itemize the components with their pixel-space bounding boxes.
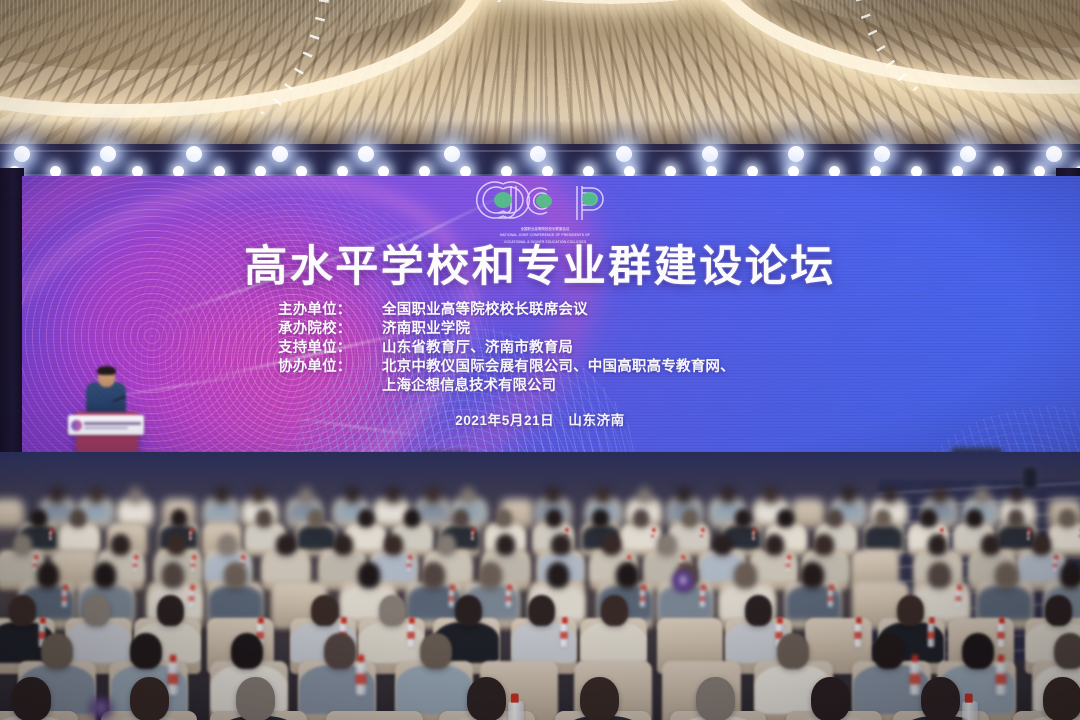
audience-member-head xyxy=(713,534,732,556)
audience-member-head xyxy=(90,487,104,503)
audience-member-head xyxy=(814,534,833,556)
audience-member-torso xyxy=(581,622,646,663)
audience-member-head xyxy=(461,487,475,503)
water-bottle xyxy=(508,702,523,720)
audience-member-head xyxy=(827,509,843,527)
audience-member-head xyxy=(162,562,185,588)
audience-member-head xyxy=(633,509,649,527)
water-bottle xyxy=(189,531,192,540)
audience-member-head xyxy=(1008,509,1024,527)
audience-member-head xyxy=(308,509,324,527)
audience-chair xyxy=(326,711,422,720)
audience-member-head xyxy=(696,677,735,720)
audience-member-head xyxy=(677,487,691,503)
audience-member-head xyxy=(9,595,36,626)
ceiling xyxy=(0,0,1080,162)
truss-lamp-large xyxy=(530,146,546,162)
audience-member-torso xyxy=(205,501,238,522)
seat-number-marker: 6 xyxy=(90,697,112,719)
audience-member-head xyxy=(94,562,117,588)
audience-member-head xyxy=(467,677,506,720)
audience-member-head xyxy=(801,562,824,588)
podium-placard-text xyxy=(84,422,141,429)
audience-member-head xyxy=(933,487,947,503)
water-bottle xyxy=(560,623,567,647)
audience-member-head xyxy=(50,487,64,503)
audience-member-head xyxy=(358,562,381,588)
audience-member-head xyxy=(873,633,905,669)
audience-member-head xyxy=(324,633,356,669)
audience-member-torso xyxy=(208,585,263,620)
audience-member-head xyxy=(1045,595,1072,626)
speaker-hair xyxy=(97,366,116,375)
audience-member-head xyxy=(13,534,32,556)
info-label: 主办单位： xyxy=(278,298,382,319)
water-bottle xyxy=(956,589,961,606)
audience-member-head xyxy=(601,595,628,626)
audience-member-head xyxy=(386,487,400,503)
water-bottle xyxy=(700,589,705,606)
placard-line-1 xyxy=(84,422,141,425)
audience-member-head xyxy=(897,595,924,626)
audience-member-head xyxy=(157,595,184,626)
info-label: 支持单位： xyxy=(278,336,382,357)
audience-member-head xyxy=(928,562,951,588)
audience-member-head xyxy=(299,487,313,503)
water-bottle xyxy=(700,531,703,540)
audience-member-head xyxy=(777,633,809,669)
audience-member-head xyxy=(379,595,406,626)
info-value: 济南职业学院 xyxy=(382,317,918,338)
audience-member-head xyxy=(37,562,60,588)
audience-member-head xyxy=(975,487,989,503)
audience-chair xyxy=(0,499,24,528)
truss-lamp-large xyxy=(702,146,718,162)
audience-member-head xyxy=(546,487,560,503)
audience-member-head xyxy=(252,487,266,503)
truss-lamp-large xyxy=(788,146,804,162)
seat-number-marker: 8 xyxy=(672,570,694,592)
audience-member-torso xyxy=(396,665,472,714)
audience-member-head xyxy=(1059,509,1075,527)
audience-member-head xyxy=(111,534,130,556)
water-bottle xyxy=(167,661,177,695)
audience-member-head xyxy=(1032,534,1051,556)
audience-member-head xyxy=(455,595,482,626)
audience-member-head xyxy=(764,487,778,503)
water-bottle xyxy=(995,661,1005,695)
audience-member-head xyxy=(596,487,610,503)
audience-member-torso xyxy=(66,622,131,663)
water-bottle xyxy=(910,661,920,695)
audience-member-head xyxy=(358,509,374,527)
audience-member-head xyxy=(875,509,891,527)
audience-member-head xyxy=(765,534,784,556)
audience-member-head xyxy=(580,677,619,720)
audience-member-head xyxy=(41,633,73,669)
audience-member-head xyxy=(276,534,295,556)
water-bottle xyxy=(855,623,862,647)
audience-member-head xyxy=(479,562,502,588)
info-label: 协办单位： xyxy=(278,355,382,376)
audience-member-head xyxy=(437,534,456,556)
audience-member-head xyxy=(1043,677,1080,720)
water-bottle xyxy=(1053,558,1057,570)
info-continuation: 上海企想信息技术有限公司 xyxy=(278,374,918,393)
water-bottle xyxy=(506,589,511,606)
truss-lamp-large xyxy=(358,146,374,162)
audience-member-head xyxy=(231,633,263,669)
audience-member-head xyxy=(496,534,515,556)
logo-subtitle: 全国职业高等院校校长联席会议 xyxy=(470,227,620,232)
audience-member-head xyxy=(721,487,735,503)
water-bottle xyxy=(828,589,833,606)
audience-member-head xyxy=(928,534,947,556)
audience-member-torso xyxy=(1049,525,1080,550)
truss-lamp-large xyxy=(14,146,30,162)
audience-member-head xyxy=(384,534,403,556)
water-bottle xyxy=(471,531,474,540)
truss-lamp-large xyxy=(1046,146,1062,162)
podium-placard xyxy=(68,415,144,435)
audience-member-head xyxy=(745,595,772,626)
audience-member-head xyxy=(547,562,570,588)
info-row: 主办单位： 全国职业高等院校校长联席会议 xyxy=(278,298,918,317)
audience-member-head xyxy=(734,562,757,588)
water-bottle xyxy=(133,558,137,570)
water-bottle xyxy=(651,531,654,540)
logo-subtitle-en1: NATIONAL JOINT CONFERENCE OF PRESIDENTS … xyxy=(470,233,620,238)
audience-member-head xyxy=(811,677,850,720)
audience-member-head xyxy=(551,534,570,556)
audience-member-head xyxy=(842,487,856,503)
water-bottle xyxy=(191,558,195,570)
audience-member-head xyxy=(12,677,51,720)
audience-member-head xyxy=(966,509,982,527)
audience-member-torso xyxy=(416,501,449,522)
water-bottle xyxy=(962,702,977,720)
audience-member-head xyxy=(422,562,445,588)
water-bottle xyxy=(189,589,194,606)
podium-placard-logo-icon xyxy=(71,420,82,431)
audience-member-head xyxy=(1054,633,1080,669)
audience-member-head xyxy=(1010,487,1024,503)
audience-member-head xyxy=(130,633,162,669)
audience-member-head xyxy=(735,509,751,527)
audience-member-head xyxy=(83,595,110,626)
info-row: 承办院校： 济南职业学院 xyxy=(278,317,918,336)
water-bottle xyxy=(1027,531,1030,540)
info-value: 北京中教仪国际会展有限公司、中国高职高专教育网、 xyxy=(382,355,918,376)
audience-member-head xyxy=(638,487,652,503)
audience-member-head xyxy=(602,534,621,556)
water-bottle xyxy=(997,623,1004,647)
info-row: 协办单位： 北京中教仪国际会展有限公司、中国高职高专教育网、 xyxy=(278,355,918,374)
audience-member-head xyxy=(962,633,994,669)
truss-lamp-large xyxy=(186,146,202,162)
truss-lamp-large xyxy=(874,146,890,162)
info-value: 全国职业高等院校校长联席会议 xyxy=(382,298,918,319)
audience-member-torso xyxy=(119,501,152,522)
audience-member-head xyxy=(496,509,512,527)
info-value: 山东省教育厅、济南市教育局 xyxy=(382,336,918,357)
truss-lamp-large xyxy=(100,146,116,162)
audience-member-head xyxy=(981,534,1000,556)
audience-member-head xyxy=(256,509,272,527)
audience-member-head xyxy=(682,509,698,527)
audience-member-head xyxy=(995,562,1018,588)
placard-line-2 xyxy=(84,427,128,429)
water-bottle xyxy=(61,589,66,606)
water-bottle xyxy=(49,531,52,540)
audience-member-head xyxy=(1060,562,1080,588)
phone-held-up xyxy=(1022,466,1038,490)
audience-member-head xyxy=(171,509,187,527)
water-bottle xyxy=(33,558,37,570)
audience-member-head xyxy=(546,509,562,527)
audience-member-head xyxy=(883,487,897,503)
water-bottle xyxy=(449,589,454,606)
truss-lamp-large xyxy=(444,146,460,162)
audience-member-head xyxy=(777,509,793,527)
audience-member-head xyxy=(129,487,143,503)
water-bottle xyxy=(408,623,415,647)
water-bottle xyxy=(786,558,790,570)
info-label: 承办院校： xyxy=(278,317,382,338)
audience-member-torso xyxy=(263,553,309,582)
audience-member-head xyxy=(218,534,237,556)
audience-member-head xyxy=(420,633,452,669)
audience-member-head xyxy=(453,509,469,527)
audience-member-head xyxy=(921,677,960,720)
water-bottle xyxy=(639,589,644,606)
conference-photo: 全国职业高等院校校长联席会议 NATIONAL JOINT CONFERENCE… xyxy=(0,0,1080,720)
date-location: 2021年5月21日 山东济南 xyxy=(0,409,1080,429)
audience-member-head xyxy=(224,562,247,588)
audience-member-torso xyxy=(864,525,903,550)
water-bottle xyxy=(407,558,411,570)
audience-member-head xyxy=(346,487,360,503)
water-bottle xyxy=(928,623,935,647)
audience-member-head xyxy=(426,487,440,503)
audience-area: 8 6 xyxy=(0,452,1080,720)
audience-member-head xyxy=(592,509,608,527)
truss-lamp-large xyxy=(272,146,288,162)
info-row: 支持单位： 山东省教育厅、济南市教育局 xyxy=(278,336,918,355)
truss-lamp-large xyxy=(960,146,976,162)
audience-member-head xyxy=(657,534,676,556)
audience-member-head xyxy=(404,509,420,527)
truss-lamp-large xyxy=(616,146,632,162)
forum-headline: 高水平学校和专业群建设论坛 xyxy=(0,246,1080,289)
water-bottle xyxy=(356,661,366,695)
audience-member-torso xyxy=(297,525,336,550)
screen-pillar-left xyxy=(0,168,24,480)
audience-member-head xyxy=(167,534,186,556)
audience-member-head xyxy=(130,677,169,720)
organizer-info-block: 主办单位： 全国职业高等院校校长联席会议 承办院校： 济南职业学院 支持单位： … xyxy=(278,298,918,393)
audience-member-head xyxy=(920,509,936,527)
audience-member-head xyxy=(528,595,555,626)
audience-member-head xyxy=(236,677,275,720)
audience-member-head xyxy=(334,534,353,556)
audience-member-torso xyxy=(60,525,99,550)
water-bottle xyxy=(752,531,755,540)
audience-member-head xyxy=(70,509,86,527)
conference-logo: 全国职业高等院校校长联席会议 NATIONAL JOINT CONFERENCE… xyxy=(455,176,635,250)
jcp-logo-mark xyxy=(459,176,631,226)
audience-member-head xyxy=(215,487,229,503)
audience-member-head xyxy=(616,562,639,588)
audience-member-head xyxy=(31,509,47,527)
audience-member-head xyxy=(311,595,338,626)
audience-member-torso xyxy=(977,585,1032,620)
